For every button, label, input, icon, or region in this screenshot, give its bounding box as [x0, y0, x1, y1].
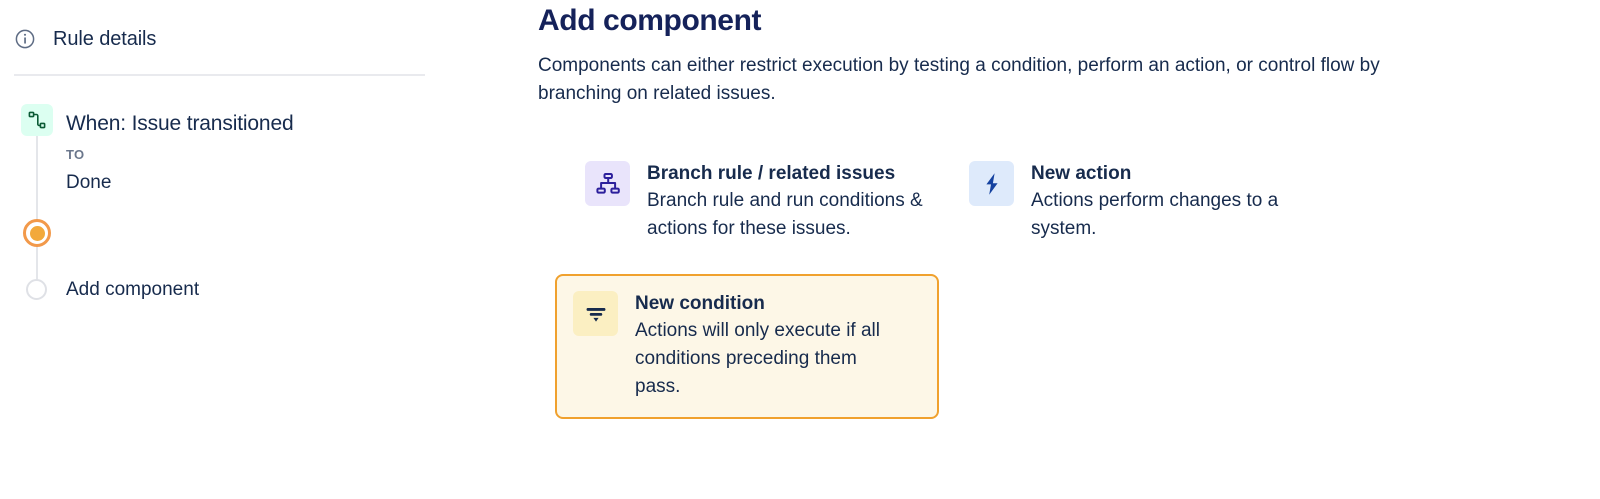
empty-step-node-icon[interactable]: [26, 279, 47, 300]
selected-step-node-dot: [30, 226, 45, 241]
trigger-title[interactable]: When: Issue transitioned: [66, 110, 294, 138]
option-new-condition-body: New condition Actions will only execute …: [635, 290, 905, 401]
option-new-condition-title: New condition: [635, 291, 905, 316]
option-new-condition-description: Actions will only execute if all conditi…: [635, 317, 905, 401]
trigger-field-value: Done: [66, 170, 111, 196]
info-circle-icon: [14, 28, 36, 50]
page-title: Add component: [538, 2, 761, 40]
sidebar-item-add-component[interactable]: Add component: [66, 277, 199, 303]
rule-chain-rail: Rule details When: Issue transitioned TO…: [0, 0, 460, 499]
hierarchy-branch-icon: [585, 161, 630, 206]
lightning-bolt-icon: [969, 161, 1014, 206]
issue-transition-icon: [21, 104, 53, 136]
sidebar-item-rule-details[interactable]: Rule details: [14, 22, 156, 56]
option-branch-rule[interactable]: Branch rule / related issues Branch rule…: [571, 148, 931, 257]
selected-step-node-icon[interactable]: [23, 219, 51, 247]
add-component-screen: Rule details When: Issue transitioned TO…: [0, 0, 1600, 499]
option-branch-rule-body: Branch rule / related issues Branch rule…: [647, 160, 932, 243]
option-new-action-description: Actions perform changes to a system.: [1031, 187, 1306, 243]
option-new-action-title: New action: [1031, 161, 1306, 186]
option-branch-rule-description: Branch rule and run conditions & actions…: [647, 187, 932, 243]
option-new-action[interactable]: New action Actions perform changes to a …: [955, 148, 1315, 257]
panel-description: Components can either restrict execution…: [538, 52, 1468, 108]
filter-funnel-icon: [573, 291, 618, 336]
add-component-panel: Add component Components can either rest…: [538, 0, 1600, 499]
rail-connector-line: [36, 128, 38, 290]
option-new-condition[interactable]: New condition Actions will only execute …: [555, 274, 939, 419]
option-branch-rule-title: Branch rule / related issues: [647, 161, 932, 186]
trigger-field-label: TO: [66, 147, 84, 163]
option-new-action-body: New action Actions perform changes to a …: [1031, 160, 1306, 243]
rail-divider: [14, 74, 425, 76]
rule-details-label: Rule details: [53, 27, 156, 51]
